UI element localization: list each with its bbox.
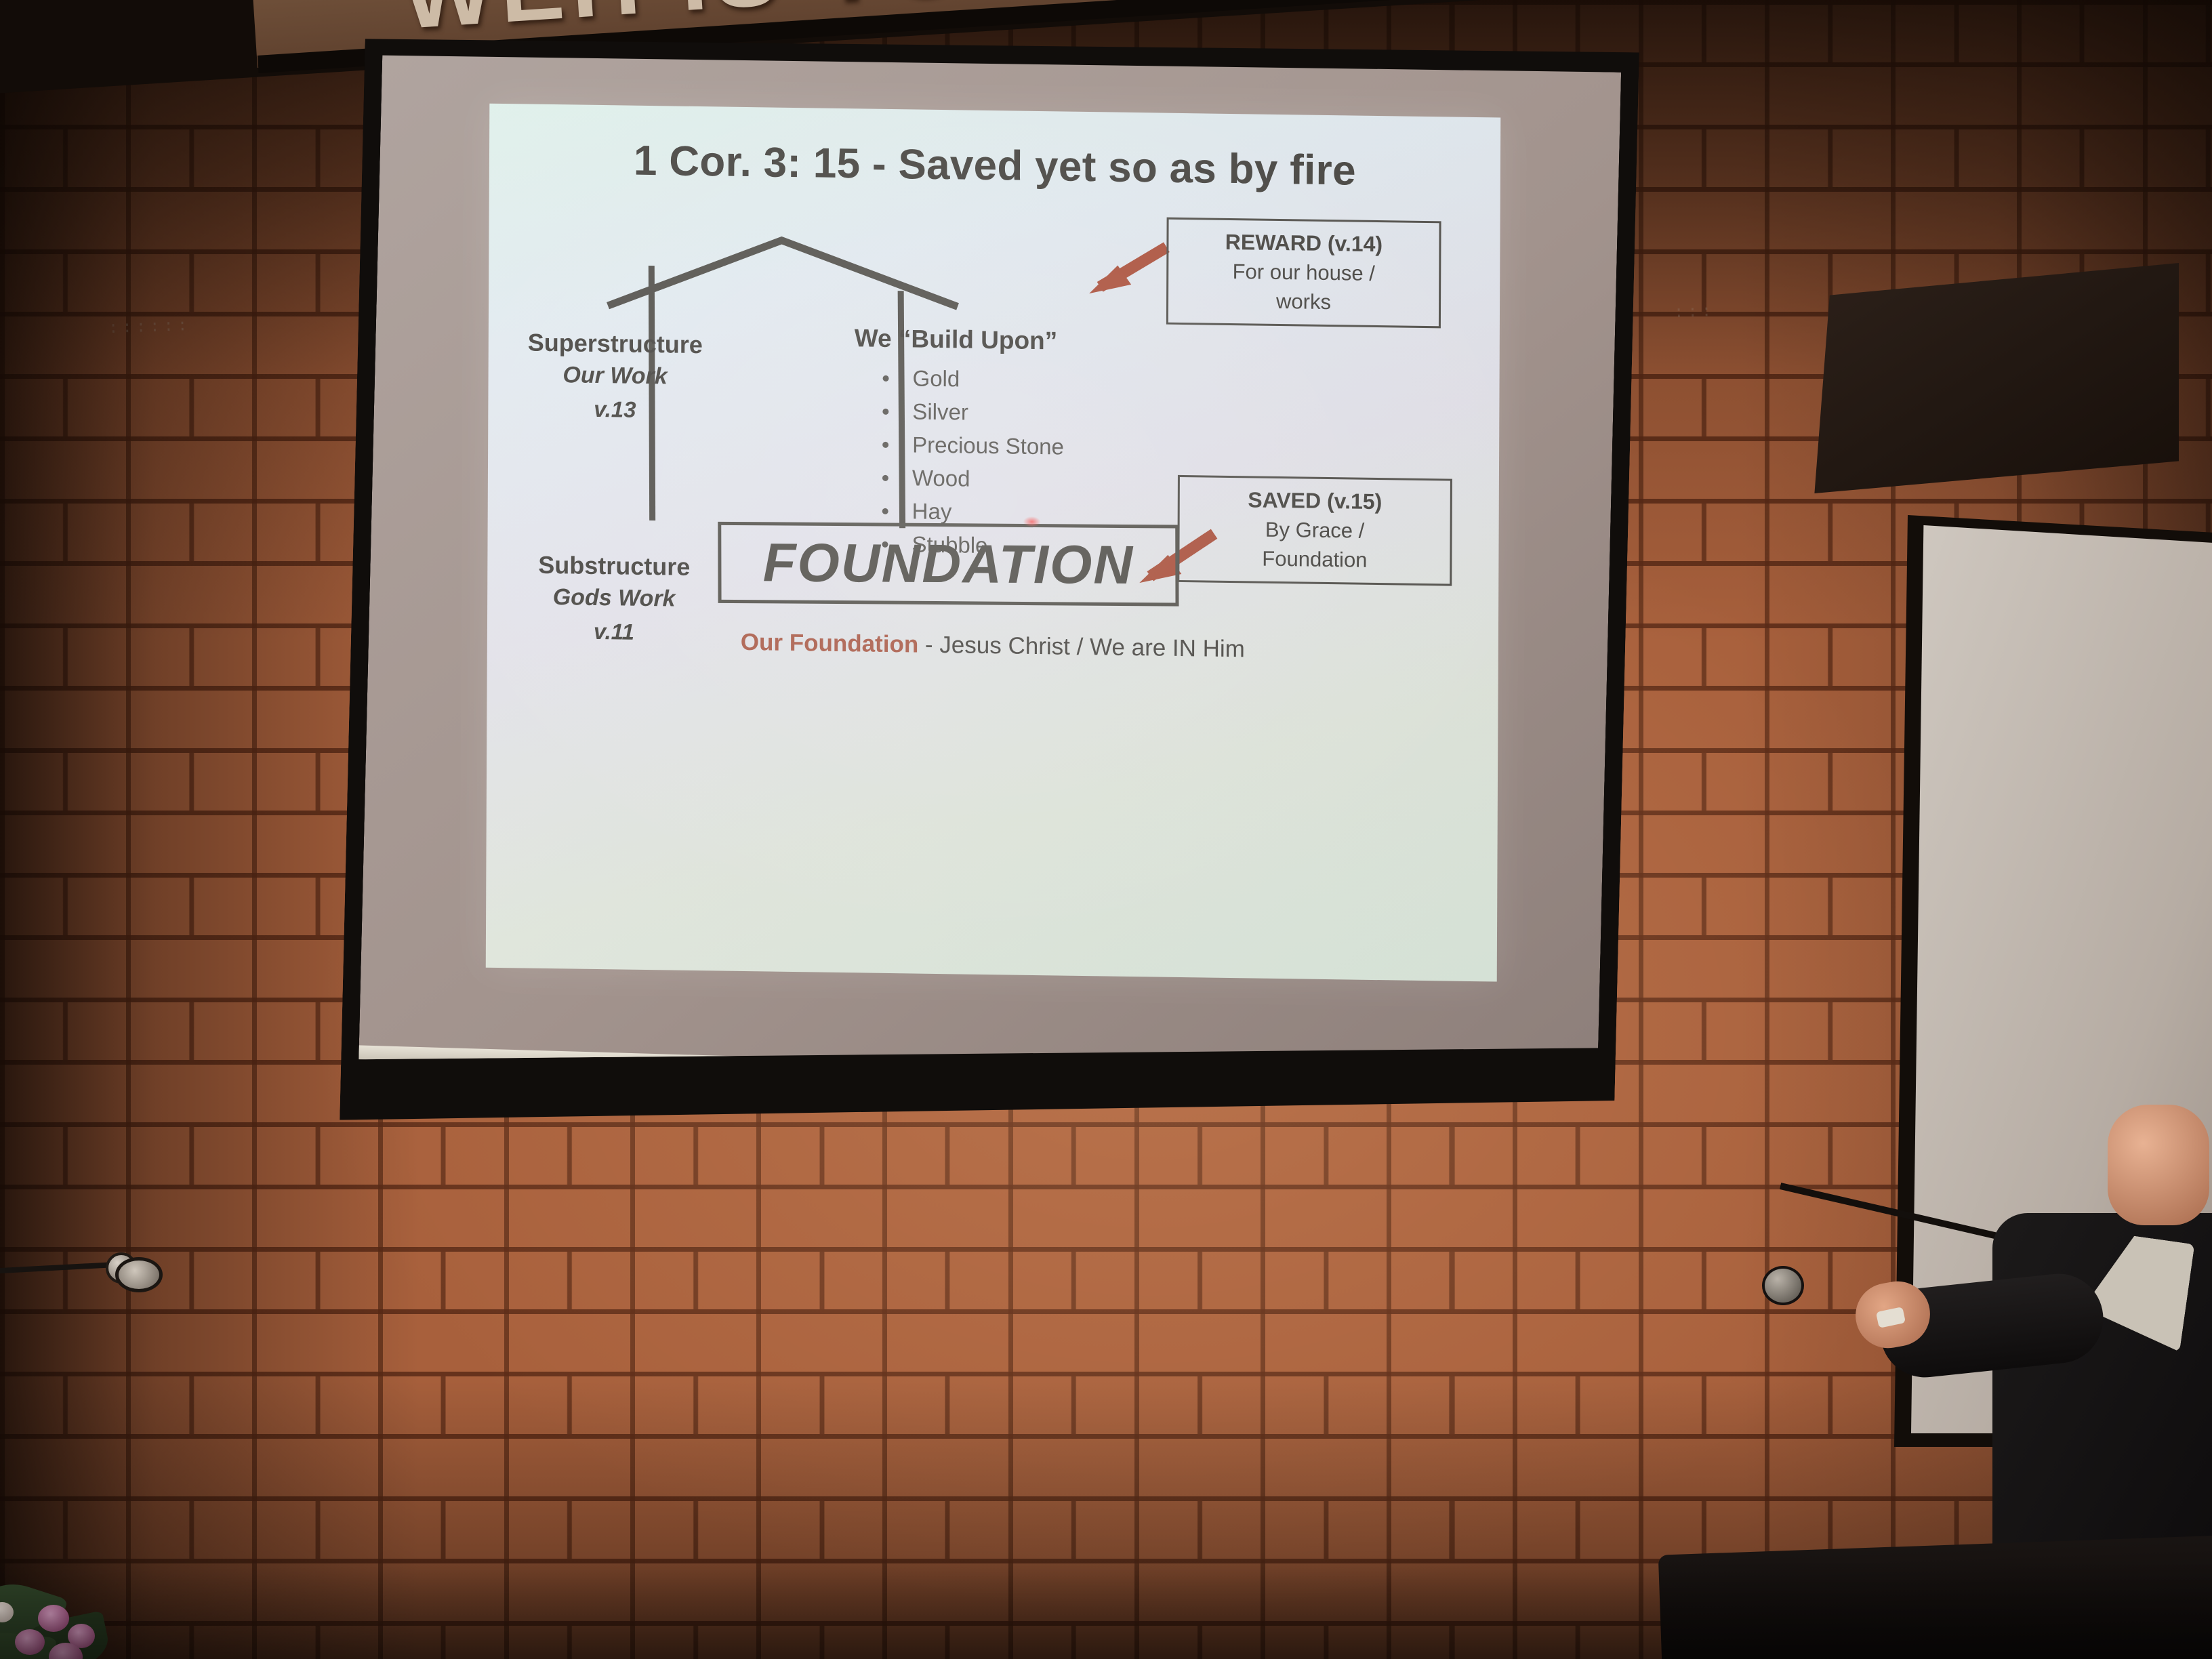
substructure-line1: Substructure (502, 550, 726, 583)
reward-line2: works (1174, 285, 1433, 318)
build-upon-heading: We “Build Upon” (855, 324, 1146, 356)
list-item: Silver (873, 394, 1171, 432)
laser-pointer-dot (1023, 516, 1041, 527)
list-item: Wood (873, 461, 1171, 498)
list-item: Gold (873, 361, 1171, 398)
saved-line1: By Grace / (1185, 514, 1445, 546)
projector-screen: 1 Cor. 3: 15 - Saved yet so as by fire (340, 22, 1639, 1150)
ceiling-speaker-box (1799, 263, 2179, 493)
superstructure-line2: Our Work (503, 357, 726, 394)
superstructure-line3: v.13 (503, 391, 726, 428)
saved-callout-box: SAVED (v.15) By Grace / Foundation (1177, 475, 1452, 586)
reward-line1: For our house / (1174, 256, 1433, 289)
list-item: Precious Stone (873, 428, 1171, 465)
wall-bracket (115, 1257, 163, 1292)
roof-line (608, 238, 958, 310)
bottom-caption-emphasis: Our Foundation (741, 629, 919, 658)
floor-shadow (0, 1559, 2212, 1659)
superstructure-line1: Superstructure (504, 327, 727, 361)
reward-heading: REWARD (v.14) (1174, 226, 1433, 260)
photo-scene: :::::: ::: :::: WEH IS YOUR STRENGTH 1 C… (0, 0, 2212, 1659)
screen-surface: 1 Cor. 3: 15 - Saved yet so as by fire (359, 43, 1621, 1089)
superstructure-label: Superstructure Our Work v.13 (503, 327, 727, 428)
presenter-head (2108, 1105, 2209, 1225)
substructure-line2: Gods Work (502, 579, 726, 617)
foundation-box: FOUNDATION (718, 522, 1179, 607)
saved-heading: SAVED (v.15) (1185, 484, 1445, 517)
bottom-caption-rest: - Jesus Christ / We are IN Him (918, 632, 1245, 663)
saved-line2: Foundation (1185, 543, 1444, 575)
presentation-slide: 1 Cor. 3: 15 - Saved yet so as by fire (486, 104, 1500, 982)
reward-arrow (1089, 246, 1166, 295)
foundation-label: FOUNDATION (763, 531, 1134, 596)
microphone-head-right (1762, 1266, 1804, 1305)
reward-callout-box: REWARD (v.14) For our house / works (1166, 218, 1441, 329)
